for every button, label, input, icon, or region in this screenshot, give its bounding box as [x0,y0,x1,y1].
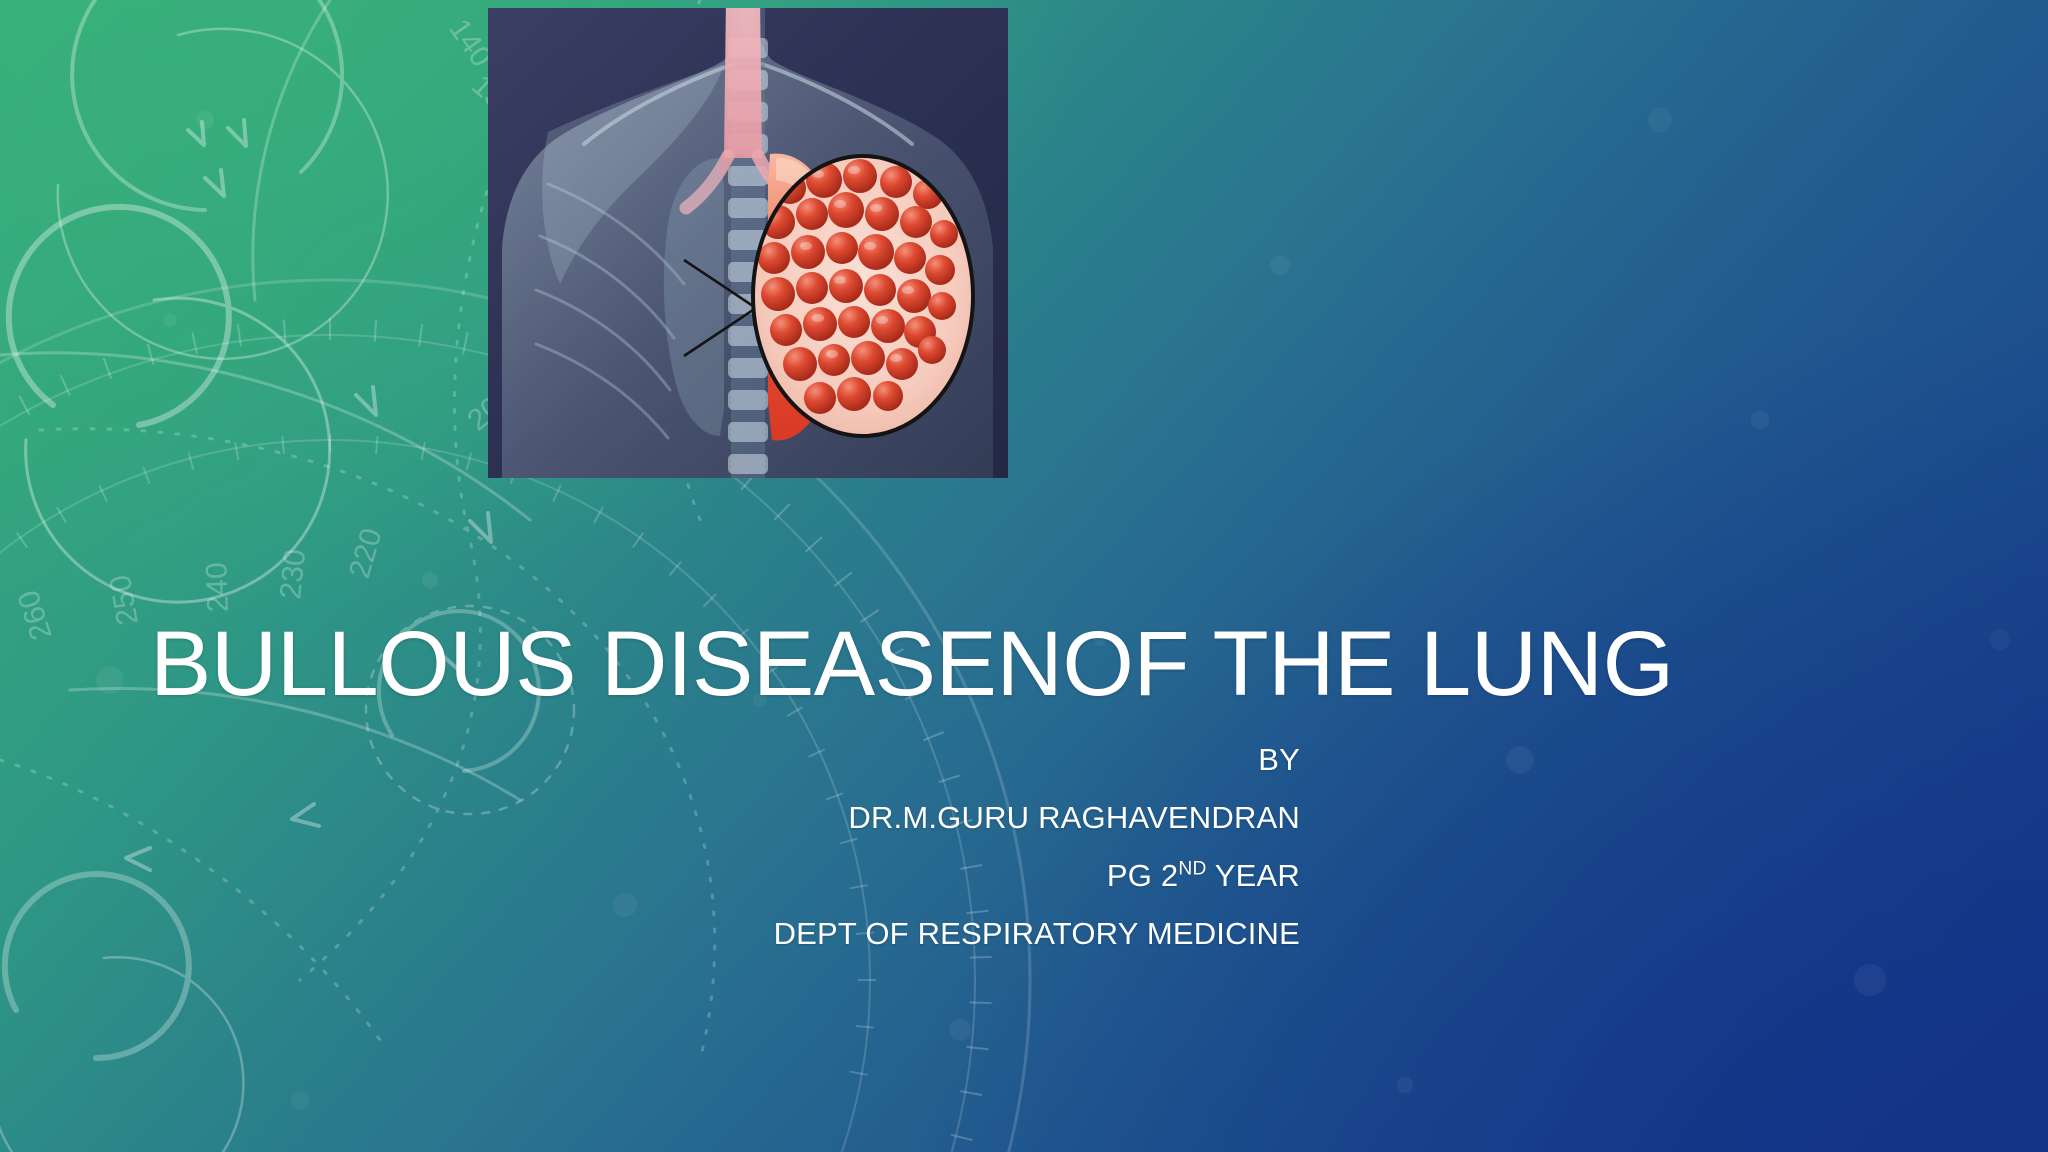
compass-label-230: 230 [274,547,312,600]
subtitle-year-ordinal: ND [1178,859,1206,880]
page-title: BULLOUS DISEASENOF THE LUNG [150,618,1510,712]
subtitle-author: DR.M.GURU RAGHAVENDRAN [400,800,1300,836]
compass-label-260: 260 [12,586,59,644]
subtitle-by: BY [400,742,1300,778]
lung-anatomy-image [488,8,1008,478]
subtitle-block: BY DR.M.GURU RAGHAVENDRAN PG 2ND YEAR DE… [400,742,1300,952]
lung-illustration [488,8,1008,478]
radar-compass-graphic: 260 250 240 230 220 200 150 140 [0,0,2048,1152]
background-decoration: 260 250 240 230 220 200 150 140 [0,0,2048,1152]
subtitle-year: PG 2ND YEAR [400,858,1300,894]
subtitle-dept: DEPT OF RESPIRATORY MEDICINE [400,916,1300,952]
compass-label-250: 250 [104,572,145,627]
subtitle-year-suffix: YEAR [1207,858,1300,893]
subtitle-year-prefix: PG 2 [1107,858,1178,893]
compass-label-220: 220 [343,525,389,582]
compass-label-240: 240 [200,562,235,613]
alveoli-magnifier [753,156,973,436]
presentation-slide: 260 250 240 230 220 200 150 140 [0,0,2048,1152]
